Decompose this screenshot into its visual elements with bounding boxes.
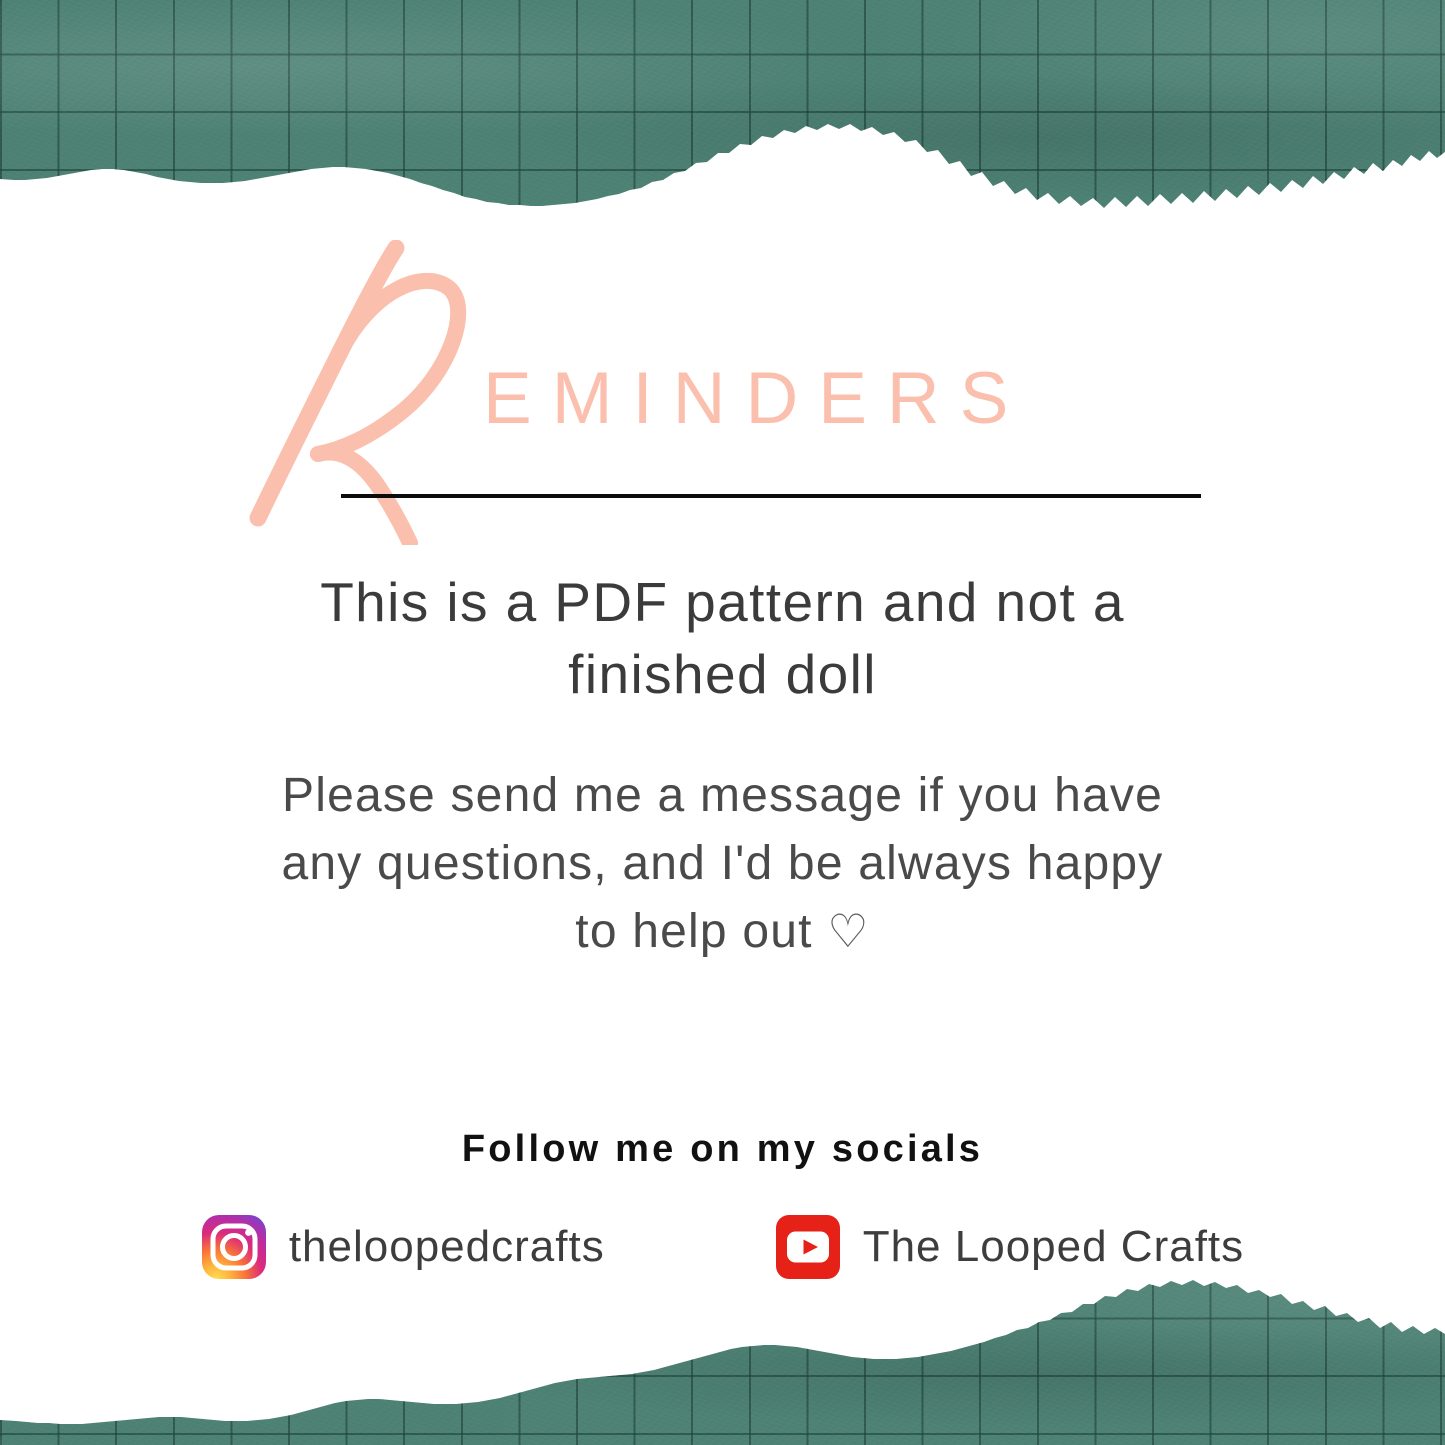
social-link-instagram[interactable]: theloopedcrafts <box>201 1214 605 1280</box>
title-divider-rule <box>341 494 1201 498</box>
page-title: EMINDERS <box>483 362 1028 435</box>
bottom-band-texture <box>0 1260 1445 1445</box>
socials-heading: Follow me on my socials <box>0 1128 1445 1171</box>
youtube-icon[interactable] <box>775 1214 841 1280</box>
instagram-icon[interactable] <box>201 1214 267 1280</box>
heart-outline-icon: ♡ <box>827 905 869 957</box>
pdf-disclaimer-text: This is a PDF pattern and not a finished… <box>0 566 1445 710</box>
contact-line-1: Please send me a message if you have <box>0 762 1445 830</box>
bottom-torn-paper-band <box>0 1260 1445 1445</box>
instagram-handle[interactable]: theloopedcrafts <box>289 1222 605 1272</box>
reminders-card: EMINDERS This is a PDF pattern and not a… <box>0 0 1445 1445</box>
contact-line-3-text: to help out <box>575 905 812 958</box>
pdf-disclaimer-line-2: finished doll <box>0 638 1445 710</box>
contact-line-3: to help out ♡ <box>0 898 1445 966</box>
script-r-drop-cap <box>244 240 474 545</box>
youtube-channel-name[interactable]: The Looped Crafts <box>863 1222 1244 1272</box>
top-torn-paper-band <box>0 0 1445 230</box>
pdf-disclaimer-line-1: This is a PDF pattern and not a <box>0 566 1445 638</box>
top-band-texture <box>0 0 1445 230</box>
contact-invitation-text: Please send me a message if you have any… <box>0 762 1445 966</box>
socials-row: theloopedcrafts The Looped Crafts <box>0 1214 1445 1280</box>
title-block: EMINDERS <box>0 240 1445 540</box>
social-link-youtube[interactable]: The Looped Crafts <box>775 1214 1244 1280</box>
contact-line-2: any questions, and I'd be always happy <box>0 830 1445 898</box>
